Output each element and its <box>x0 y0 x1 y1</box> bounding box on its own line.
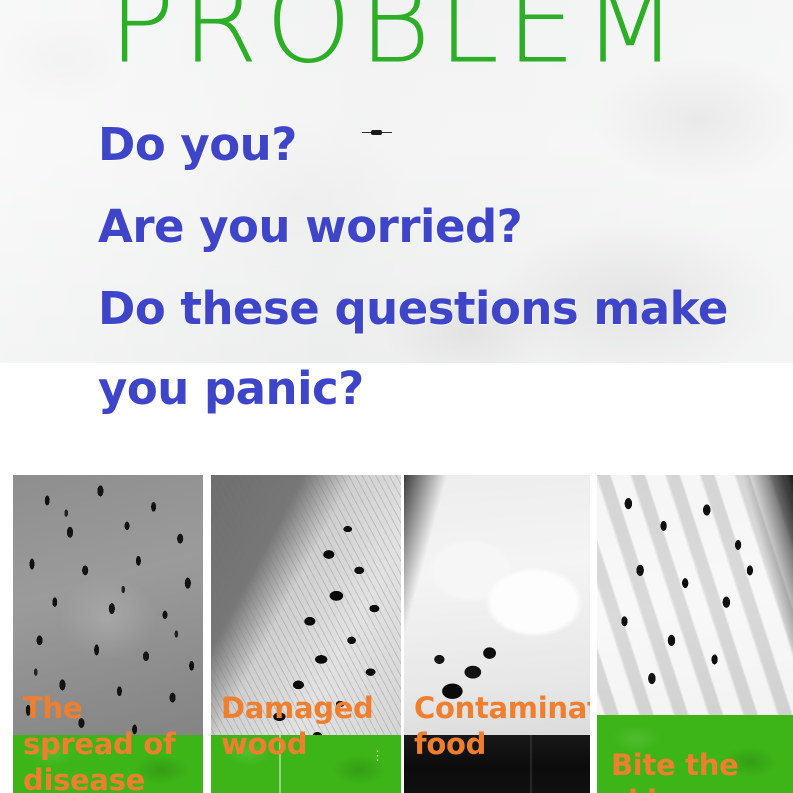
page-title: PROBLEM <box>0 0 793 79</box>
panel-bite-the-skin: Bite the skin <box>597 475 793 793</box>
panel-3-caption: Contaminated food <box>414 690 586 762</box>
photo-strip: The spread of disease ⋮ Damaged wood Con… <box>0 475 793 793</box>
panel-4-caption: Bite the skin <box>611 747 789 793</box>
question-line-4: you panic? <box>98 350 778 428</box>
panel-2-caption: Damaged wood <box>221 690 397 762</box>
question-line-3: Do these questions make <box>98 268 778 350</box>
question-line-1: Do you? <box>98 104 778 186</box>
question-list: Do you? Are you worried? Do these questi… <box>98 104 778 428</box>
problem-slide: PROBLEM Do you? Are you worried? Do thes… <box>0 0 793 793</box>
ant-speck-icon <box>362 130 392 135</box>
ant-speck-antenna-right <box>382 132 392 133</box>
ant-speck-body <box>371 130 382 135</box>
panel-1-caption: The spread of disease <box>23 690 199 793</box>
panel-damaged-wood: ⋮ Damaged wood <box>211 475 401 793</box>
panel-spread-of-disease: The spread of disease <box>13 475 203 793</box>
question-line-2: Are you worried? <box>98 186 778 268</box>
panel-contaminated-food: Contaminated food <box>404 475 590 793</box>
